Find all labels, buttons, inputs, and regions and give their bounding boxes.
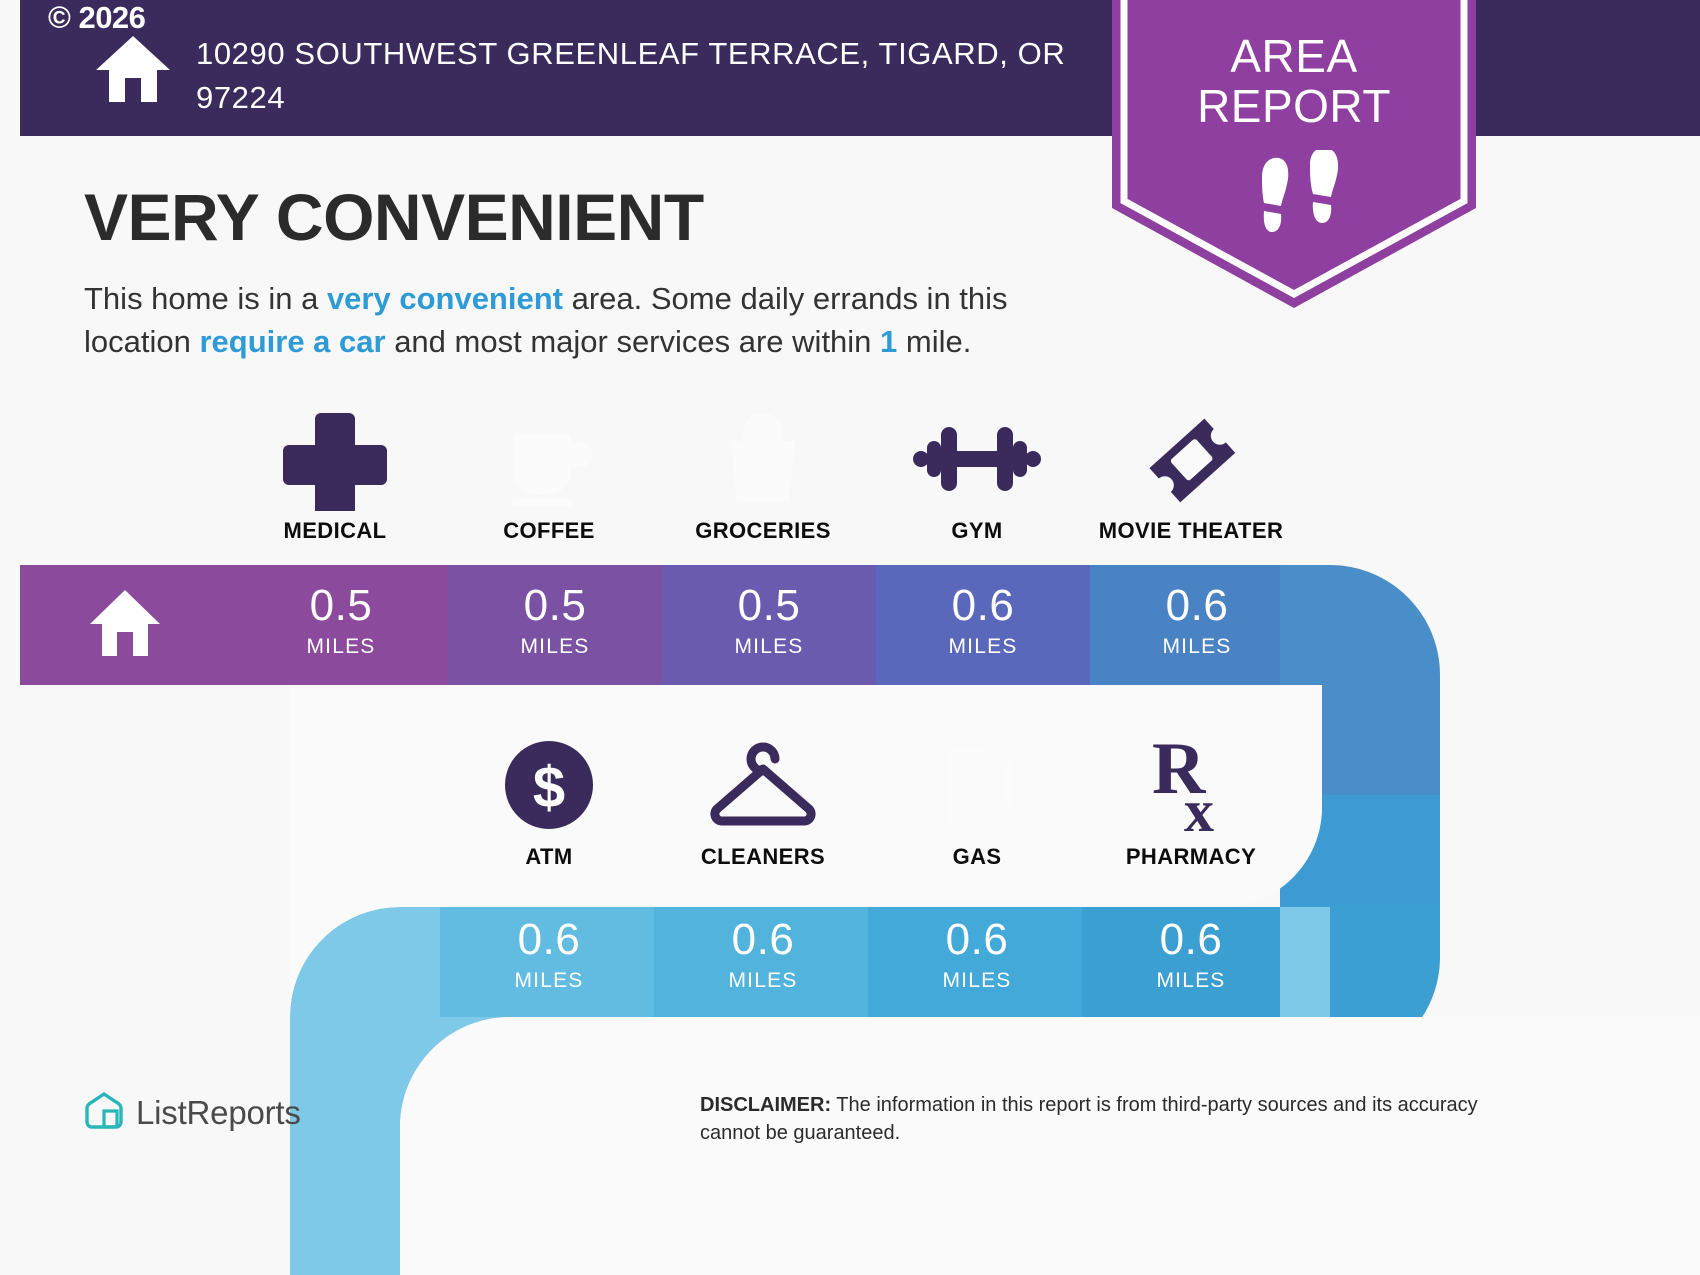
summary-accent-2: require a car [199,324,385,359]
amenity-label: CLEANERS [656,844,870,870]
summary-accent-1: very convenient [327,281,563,316]
listreports-house-icon [84,1090,124,1135]
summary-accent-3: 1 [880,324,897,359]
amenity-label: GAS [870,844,1084,870]
svg-text:x: x [1184,778,1214,839]
amenity-gas: GAS [870,730,1084,870]
amenity-label: GROCERIES [656,518,870,544]
amenity-atm: $ ATM [442,730,656,870]
gas-pump-icon [870,730,1084,840]
amenity-movie-theater: MOVIE THEATER [1084,404,1298,544]
listreports-wordmark: ListReports [136,1094,301,1132]
summary-part-4: mile. [897,324,971,359]
amenity-groceries: GROCERIES [656,404,870,544]
amenity-label: PHARMACY [1084,844,1298,870]
groceries-bag-icon [656,404,870,514]
amenity-gym: GYM [870,404,1084,544]
summary-part-3: and most major services are within [386,324,880,359]
badge-line-2: REPORT [1112,82,1476,132]
copyright-text: © 2026 [48,2,145,33]
pharmacy-rx-icon: R x [1084,730,1298,840]
home-marker-icon [88,588,162,658]
footprints-icon [1252,150,1352,238]
badge-title: AREA REPORT [1112,32,1476,131]
area-report-badge: AREA REPORT [1112,0,1476,308]
movie-ticket-icon [1084,404,1298,514]
home-icon [94,34,172,104]
amenity-cleaners: CLEANERS [656,730,870,870]
clothes-hanger-icon [656,730,870,840]
amenity-label: COFFEE [442,518,656,544]
amenity-label: ATM [442,844,656,870]
distance-track [0,555,1700,1275]
amenity-label: MEDICAL [228,518,442,544]
summary-text: This home is in a very convenient area. … [84,278,1104,364]
page-title: VERY CONVENIENT [84,184,704,250]
medical-cross-icon [228,404,442,514]
disclaimer: DISCLAIMER: The information in this repo… [700,1092,1500,1147]
dumbbell-icon [870,404,1084,514]
coffee-cup-icon [442,404,656,514]
summary-part-1: This home is in a [84,281,327,316]
amenity-pharmacy: R x PHARMACY [1084,730,1298,870]
disclaimer-label: DISCLAIMER: [700,1094,831,1116]
property-address: 10290 SOUTHWEST GREENLEAF TERRACE, TIGAR… [196,32,1076,120]
amenity-label: MOVIE THEATER [1084,518,1298,544]
svg-text:$: $ [533,755,565,820]
badge-line-1: AREA [1112,32,1476,82]
amenity-coffee: COFFEE [442,404,656,544]
atm-dollar-icon: $ [442,730,656,840]
amenity-medical: MEDICAL [228,404,442,544]
listreports-logo: ListReports [84,1090,301,1135]
amenity-label: GYM [870,518,1084,544]
